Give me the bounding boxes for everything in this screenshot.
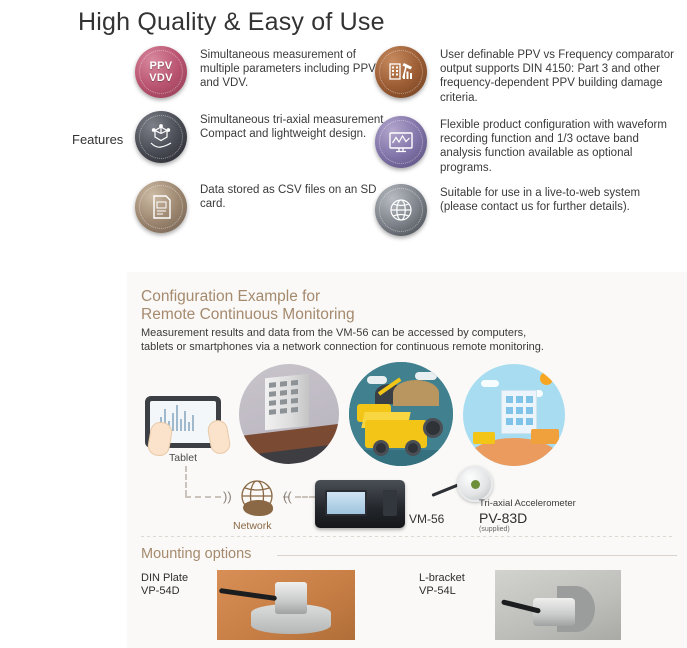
mounting-option-model: VP-54L: [419, 585, 465, 598]
sensor-cable: [219, 588, 277, 601]
cube-on-hand-glyph: [146, 122, 176, 152]
mounting-option-name: DIN Plate: [141, 572, 188, 585]
network-globe-icon: [235, 478, 279, 518]
globe-glyph: [387, 196, 415, 224]
ppv-vdv-medallion-icon: PPV VDV: [135, 46, 187, 98]
mounting-option-name: L-bracket: [419, 572, 465, 585]
section-divider: [141, 536, 673, 537]
waveform-monitor-medallion-icon: [375, 116, 427, 168]
vdv-label: VDV: [149, 72, 173, 84]
configuration-title-line2: Remote Continuous Monitoring: [141, 306, 355, 324]
excavator: [473, 432, 495, 444]
vm56-buttons: [383, 490, 397, 516]
truck-wheel: [405, 440, 421, 456]
feature-text: Flexible product configuration with wave…: [440, 116, 680, 175]
earth-mound: [393, 380, 439, 406]
office-building: [265, 374, 309, 431]
configuration-description-line1: Measurement results and data from the VM…: [141, 326, 544, 340]
vm56-device: [315, 480, 405, 528]
building-hammer-glyph: [386, 57, 416, 87]
feature-item-waveform-config: Flexible product configuration with wave…: [375, 116, 680, 175]
feature-item-tri-axial: Simultaneous tri-axial measurement. Comp…: [135, 111, 390, 163]
globe-medallion-icon: [375, 184, 427, 236]
accelerometer-label: Tri-axial Accelerometer: [479, 498, 576, 509]
vm56-label: VM-56: [409, 512, 444, 526]
configuration-title: Configuration Example for Remote Continu…: [141, 288, 355, 324]
wireless-signal-icon: ((: [283, 490, 292, 503]
tri-axial-cube-medallion-icon: [135, 111, 187, 163]
mounting-option-l-bracket: L-bracket VP-54L: [419, 572, 465, 598]
sensor-indicator: [471, 480, 480, 489]
configuration-panel: Configuration Example for Remote Continu…: [127, 272, 687, 648]
features-section: Features PPV VDV Simultaneous measuremen…: [0, 44, 687, 244]
feature-item-ppv-vdv: PPV VDV Simultaneous measurement of mult…: [135, 46, 390, 98]
feature-item-din-comparator: User definable PPV vs Frequency comparat…: [375, 46, 680, 105]
vm56-display: [325, 490, 367, 516]
feature-item-live-to-web: Suitable for use in a live-to-web system…: [375, 184, 680, 236]
ppv-vdv-glyph: PPV VDV: [149, 60, 173, 84]
din-plate-photo: [217, 570, 355, 640]
page-title: High Quality & Easy of Use: [78, 8, 385, 37]
network-label: Network: [233, 520, 272, 532]
accelerometer-model: PV-83D: [479, 510, 527, 526]
mounting-options-title: Mounting options: [141, 546, 251, 562]
connector-tablet-to-network: [185, 466, 187, 496]
ground: [349, 450, 453, 466]
feature-text: User definable PPV vs Frequency comparat…: [440, 46, 680, 105]
office-building-scene: [239, 364, 339, 464]
feature-text: Simultaneous measurement of multiple par…: [200, 46, 390, 91]
feature-item-csv-storage: Data stored as CSV files on an SD card.: [135, 181, 390, 233]
accelerometer-note: (supplied): [479, 526, 510, 533]
features-label: Features: [72, 132, 123, 147]
configuration-description: Measurement results and data from the VM…: [141, 326, 544, 354]
feature-text: Simultaneous tri-axial measurement. Comp…: [200, 111, 390, 141]
building: [501, 390, 537, 434]
building-hammer-medallion-icon: [375, 46, 427, 98]
connector-to-vm56: [295, 496, 315, 498]
ppv-label: PPV: [150, 60, 173, 72]
configuration-description-line2: tablets or smartphones via a network con…: [141, 340, 544, 354]
mounting-option-model: VP-54D: [141, 585, 188, 598]
monitor-waveform-glyph: [386, 128, 416, 156]
construction-site-scene: [349, 362, 453, 466]
mounting-title-rule: [277, 555, 677, 556]
truck-wheel: [373, 440, 389, 456]
feature-text: Suitable for use in a live-to-web system…: [440, 184, 680, 214]
wireless-signal-icon: )): [223, 490, 232, 503]
mounting-option-din-plate: DIN Plate VP-54D: [141, 572, 188, 598]
sd-card-medallion-icon: [135, 181, 187, 233]
network-cloud-shape: [243, 500, 273, 516]
sensor-housing: [275, 582, 307, 614]
haul-truck: [531, 429, 559, 444]
demolition-site-scene: [463, 364, 565, 466]
sd-card-glyph: [148, 193, 174, 221]
tablet-label: Tablet: [169, 452, 197, 464]
configuration-title-line1: Configuration Example for: [141, 288, 355, 306]
hand-right: [206, 419, 232, 456]
l-bracket-photo: [495, 570, 621, 640]
accelerometer-sensor: [457, 466, 493, 502]
feature-text: Data stored as CSV files on an SD card.: [200, 181, 390, 211]
connector-horizontal: [185, 496, 221, 498]
loader-wheel: [423, 418, 443, 438]
sun: [540, 372, 553, 385]
